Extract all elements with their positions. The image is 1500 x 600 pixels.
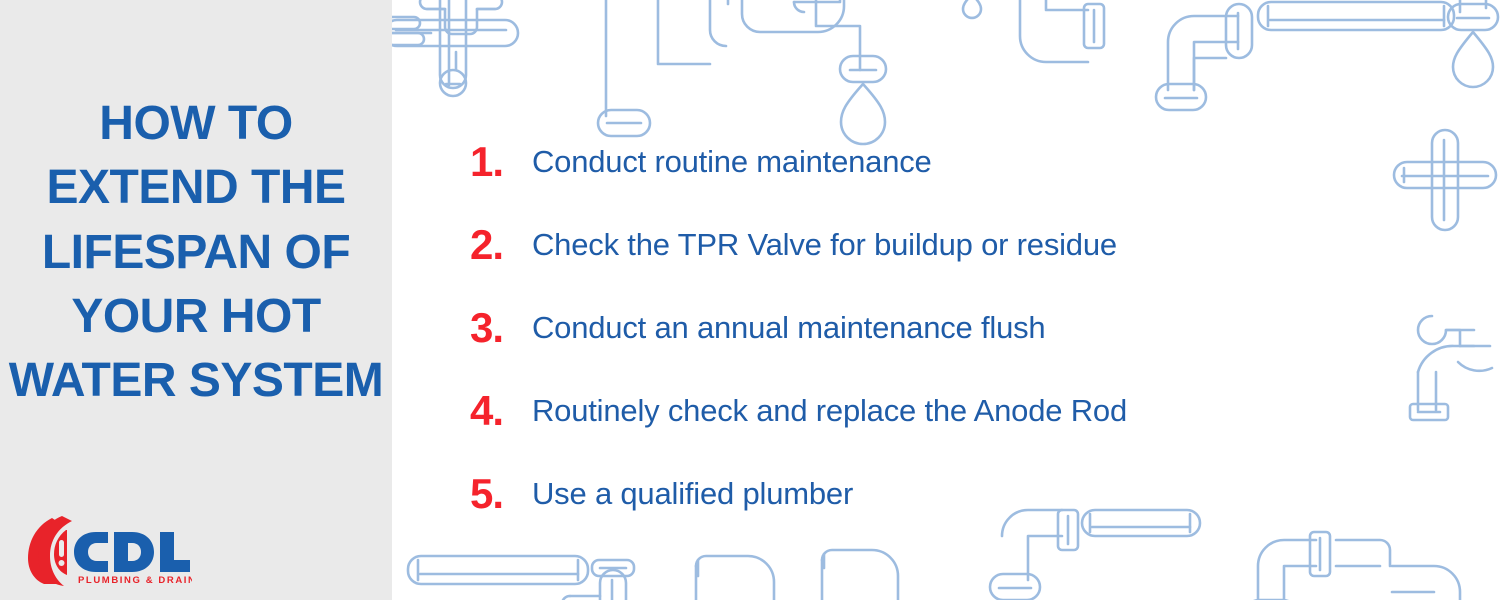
list-item: 4. Routinely check and replace the Anode…: [470, 369, 1500, 452]
swoosh-mark-icon: [28, 516, 72, 586]
cdl-wordmark: [74, 532, 190, 572]
water-drop-icon: [963, 0, 981, 18]
pipe-elbow-icon: [1020, 0, 1104, 62]
step-number: 2.: [470, 224, 532, 266]
pipe-straight-icon: [1258, 2, 1454, 30]
step-text: Routinely check and replace the Anode Ro…: [532, 393, 1127, 429]
pipe-tee-icon: [562, 560, 634, 600]
pipe-cross-fitting-icon: [392, 0, 502, 45]
list-item: 1. Conduct routine maintenance: [470, 120, 1500, 203]
step-number: 3.: [470, 307, 532, 349]
infographic-canvas: 1. Conduct routine maintenance 2. Check …: [0, 0, 1500, 600]
step-number: 4.: [470, 390, 532, 432]
step-number: 1.: [470, 141, 532, 183]
list-item: 2. Check the TPR Valve for buildup or re…: [470, 203, 1500, 286]
list-item: 3. Conduct an annual maintenance flush: [470, 286, 1500, 369]
pipe-cross-fitting-icon: [392, 0, 518, 96]
pipe-straight-icon: [408, 556, 588, 584]
step-number: 5.: [470, 473, 532, 515]
pipe-elbow-icon: [598, 0, 728, 136]
step-text: Check the TPR Valve for buildup or resid…: [532, 227, 1117, 263]
pipe-elbow-icon: [742, 0, 844, 32]
pipe-elbow-icon: [1156, 4, 1252, 110]
page-title: HOW TO EXTEND THE LIFESPAN OF YOUR HOT W…: [0, 92, 392, 414]
pipe-elbow-icon: [1336, 540, 1460, 600]
step-text: Use a qualified plumber: [532, 476, 853, 512]
step-text: Conduct an annual maintenance flush: [532, 310, 1045, 346]
step-text: Conduct routine maintenance: [532, 144, 932, 180]
content-panel: 1. Conduct routine maintenance 2. Check …: [392, 0, 1500, 600]
pipe-elbow-icon: [822, 550, 898, 600]
company-logo: PLUMBING & DRAINAGE: [22, 512, 192, 588]
logo-tagline: PLUMBING & DRAINAGE: [78, 575, 192, 586]
list-item: 5. Use a qualified plumber: [470, 452, 1500, 535]
pipe-elbow-icon: [696, 556, 774, 600]
title-panel: HOW TO EXTEND THE LIFESPAN OF YOUR HOT W…: [0, 0, 392, 600]
pipe-elbow-icon: [1246, 532, 1330, 600]
steps-list: 1. Conduct routine maintenance 2. Check …: [470, 120, 1500, 535]
faucet-drip-icon: [1448, 0, 1500, 87]
